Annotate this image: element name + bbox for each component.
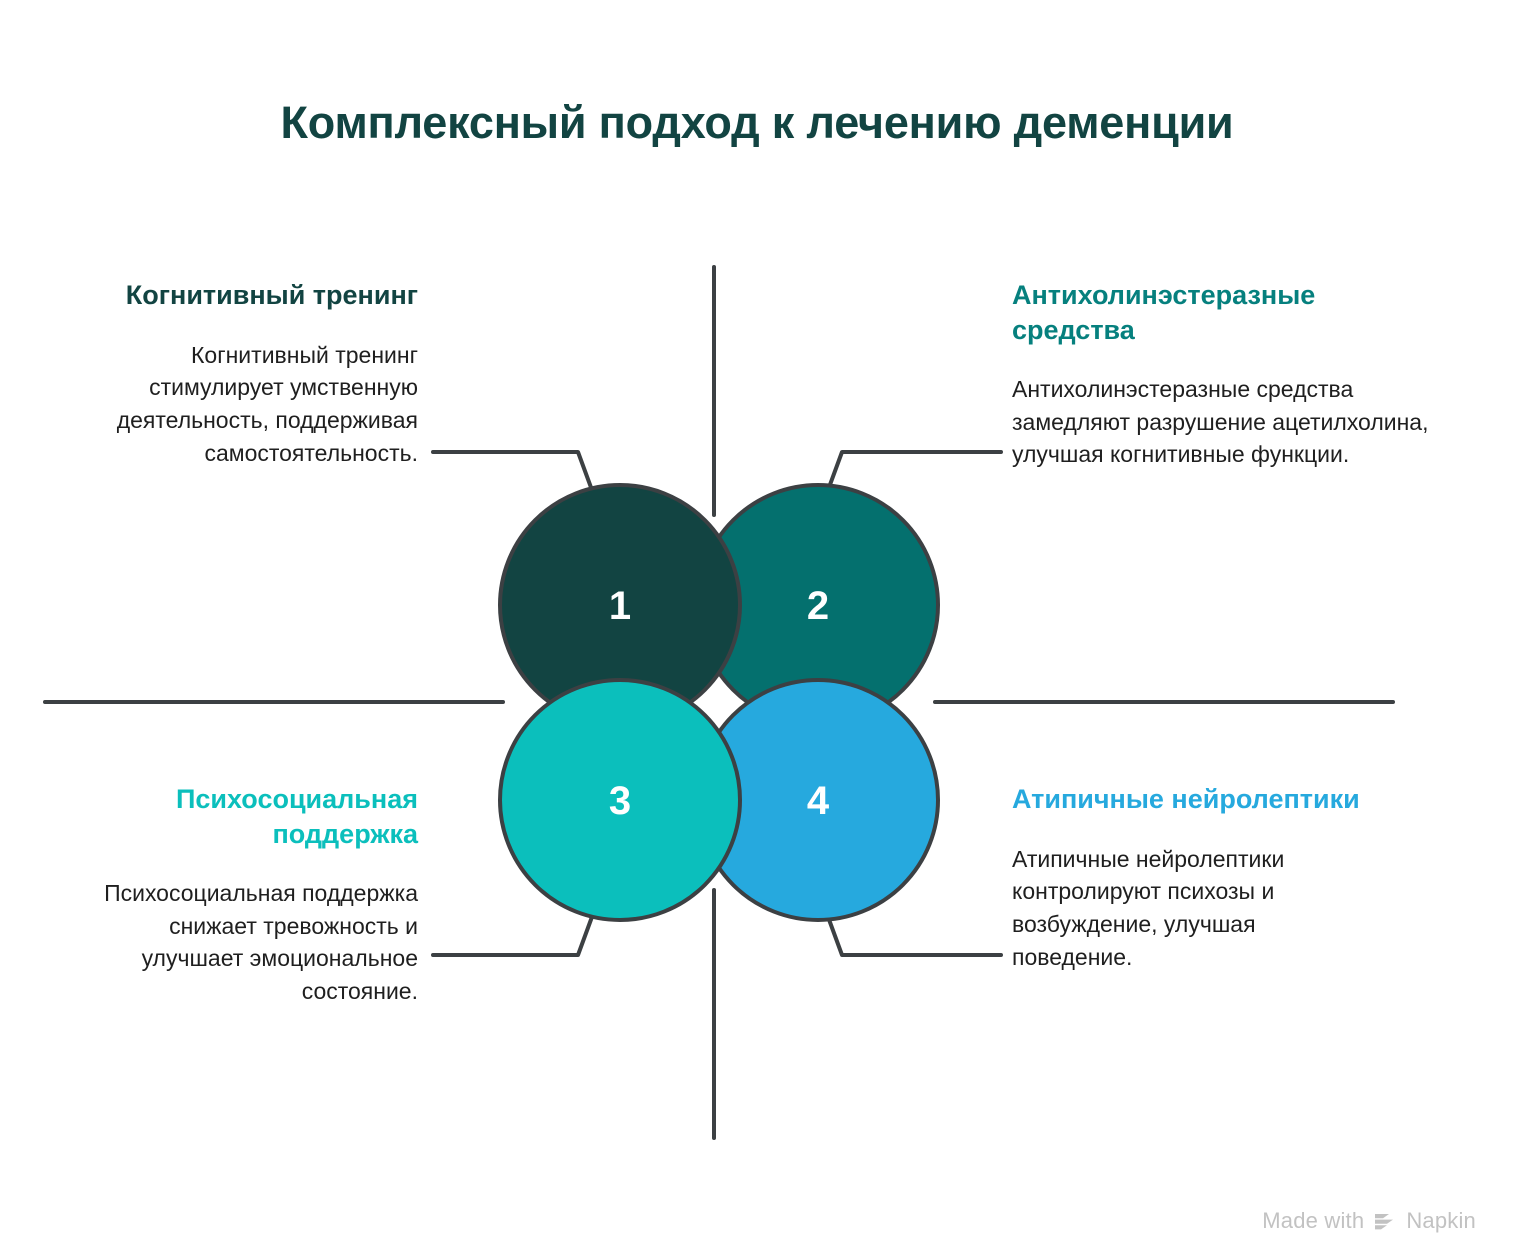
venn-circle-3-number: 3 bbox=[609, 779, 631, 823]
quadrant-2-heading: Антихолинэстеразные средства bbox=[1012, 278, 1442, 347]
quadrant-block-4: Атипичные нейролептики Атипичные нейроле… bbox=[1012, 782, 1372, 973]
divider-horizontal-right bbox=[933, 700, 1395, 704]
quadrant-block-3: Психосоциальная поддержка Психосоциальна… bbox=[68, 782, 418, 1008]
quadrant-block-1: Когнитивный тренинг Когнитивный тренинг … bbox=[68, 278, 418, 469]
quadrant-4-body: Атипичные нейролептики контролируют псих… bbox=[1012, 843, 1372, 974]
venn-circle-3[interactable]: 3 bbox=[500, 680, 740, 920]
divider-horizontal-left bbox=[43, 700, 505, 704]
napkin-watermark: Made with Napkin bbox=[1262, 1208, 1476, 1234]
quadrant-3-body: Психосоциальная поддержка снижает тревож… bbox=[68, 877, 418, 1008]
infographic-canvas: Комплексный подход к лечению деменции bbox=[0, 0, 1514, 1256]
venn-circle-cluster: 2 4 1 3 bbox=[480, 470, 960, 930]
venn-circle-4-number: 4 bbox=[807, 779, 830, 823]
venn-circle-2-number: 2 bbox=[807, 584, 829, 628]
watermark-made-with-label: Made with bbox=[1262, 1208, 1364, 1234]
quadrant-block-2: Антихолинэстеразные средства Антихолинэс… bbox=[1012, 278, 1442, 471]
quadrant-1-body: Когнитивный тренинг стимулирует умственн… bbox=[68, 339, 418, 470]
venn-circle-1-number: 1 bbox=[609, 584, 631, 628]
quadrant-1-heading: Когнитивный тренинг bbox=[68, 278, 418, 313]
watermark-brand-label: Napkin bbox=[1406, 1208, 1476, 1234]
quadrant-3-heading: Психосоциальная поддержка bbox=[68, 782, 418, 851]
napkin-logo-icon bbox=[1373, 1210, 1397, 1232]
quadrant-2-body: Антихолинэстеразные средства замедляют р… bbox=[1012, 373, 1442, 471]
page-title: Комплексный подход к лечению деменции bbox=[0, 96, 1514, 150]
quadrant-4-heading: Атипичные нейролептики bbox=[1012, 782, 1372, 817]
